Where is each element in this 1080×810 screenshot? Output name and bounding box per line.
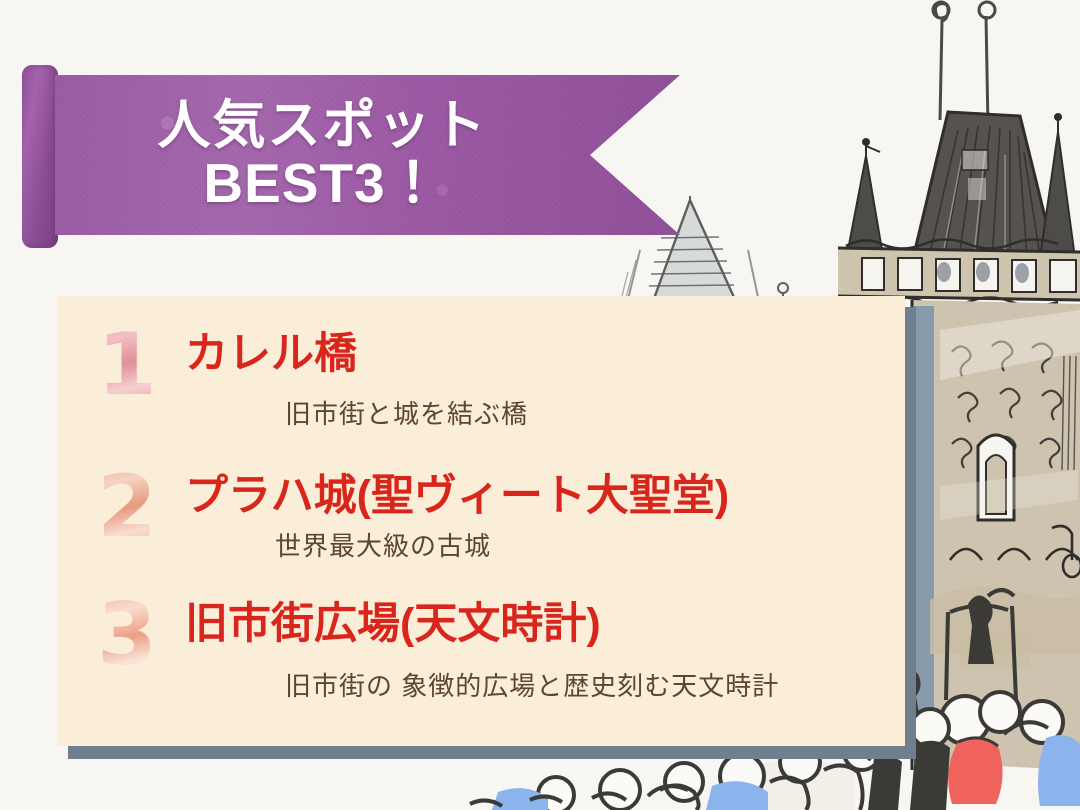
rank-number-3: 3 (79, 592, 175, 678)
rank-subtitle-1: 旧市街と城を結ぶ橋 (285, 394, 528, 431)
ribbon-banner: 人気スポット BEST3！ (16, 58, 696, 258)
rank-title-3: 旧市街広場(天文時計) (185, 602, 601, 647)
rank-subtitle-2: 世界最大級の古城 (275, 526, 491, 563)
ranking-card: 1 カレル橋 旧市街と城を結ぶ橋 2 プラハ城(聖ヴィート大聖堂) 世界最大級の… (57, 296, 905, 746)
poster-canvas: 人気スポット BEST3！ 1 カレル橋 旧市街と城を結ぶ橋 2 プラハ城(聖ヴ… (0, 0, 1080, 810)
rank-title-1: カレル橋 (185, 332, 357, 377)
rank-number-2: 2 (79, 464, 175, 550)
banner-title-line2: BEST3！ (203, 156, 441, 211)
banner-heading: 人気スポット BEST3！ (55, 75, 590, 235)
rank-title-2: プラハ城(聖ヴィート大聖堂) (185, 474, 729, 519)
ribbon-tab (22, 65, 58, 248)
ranking-list: 1 カレル橋 旧市街と城を結ぶ橋 2 プラハ城(聖ヴィート大聖堂) 世界最大級の… (57, 296, 905, 746)
banner-title-line1: 人気スポット (158, 99, 488, 152)
rank-number-1: 1 (79, 322, 175, 408)
rank-subtitle-3: 旧市街の 象徴的広場と歴史刻む天文時計 (285, 666, 779, 703)
